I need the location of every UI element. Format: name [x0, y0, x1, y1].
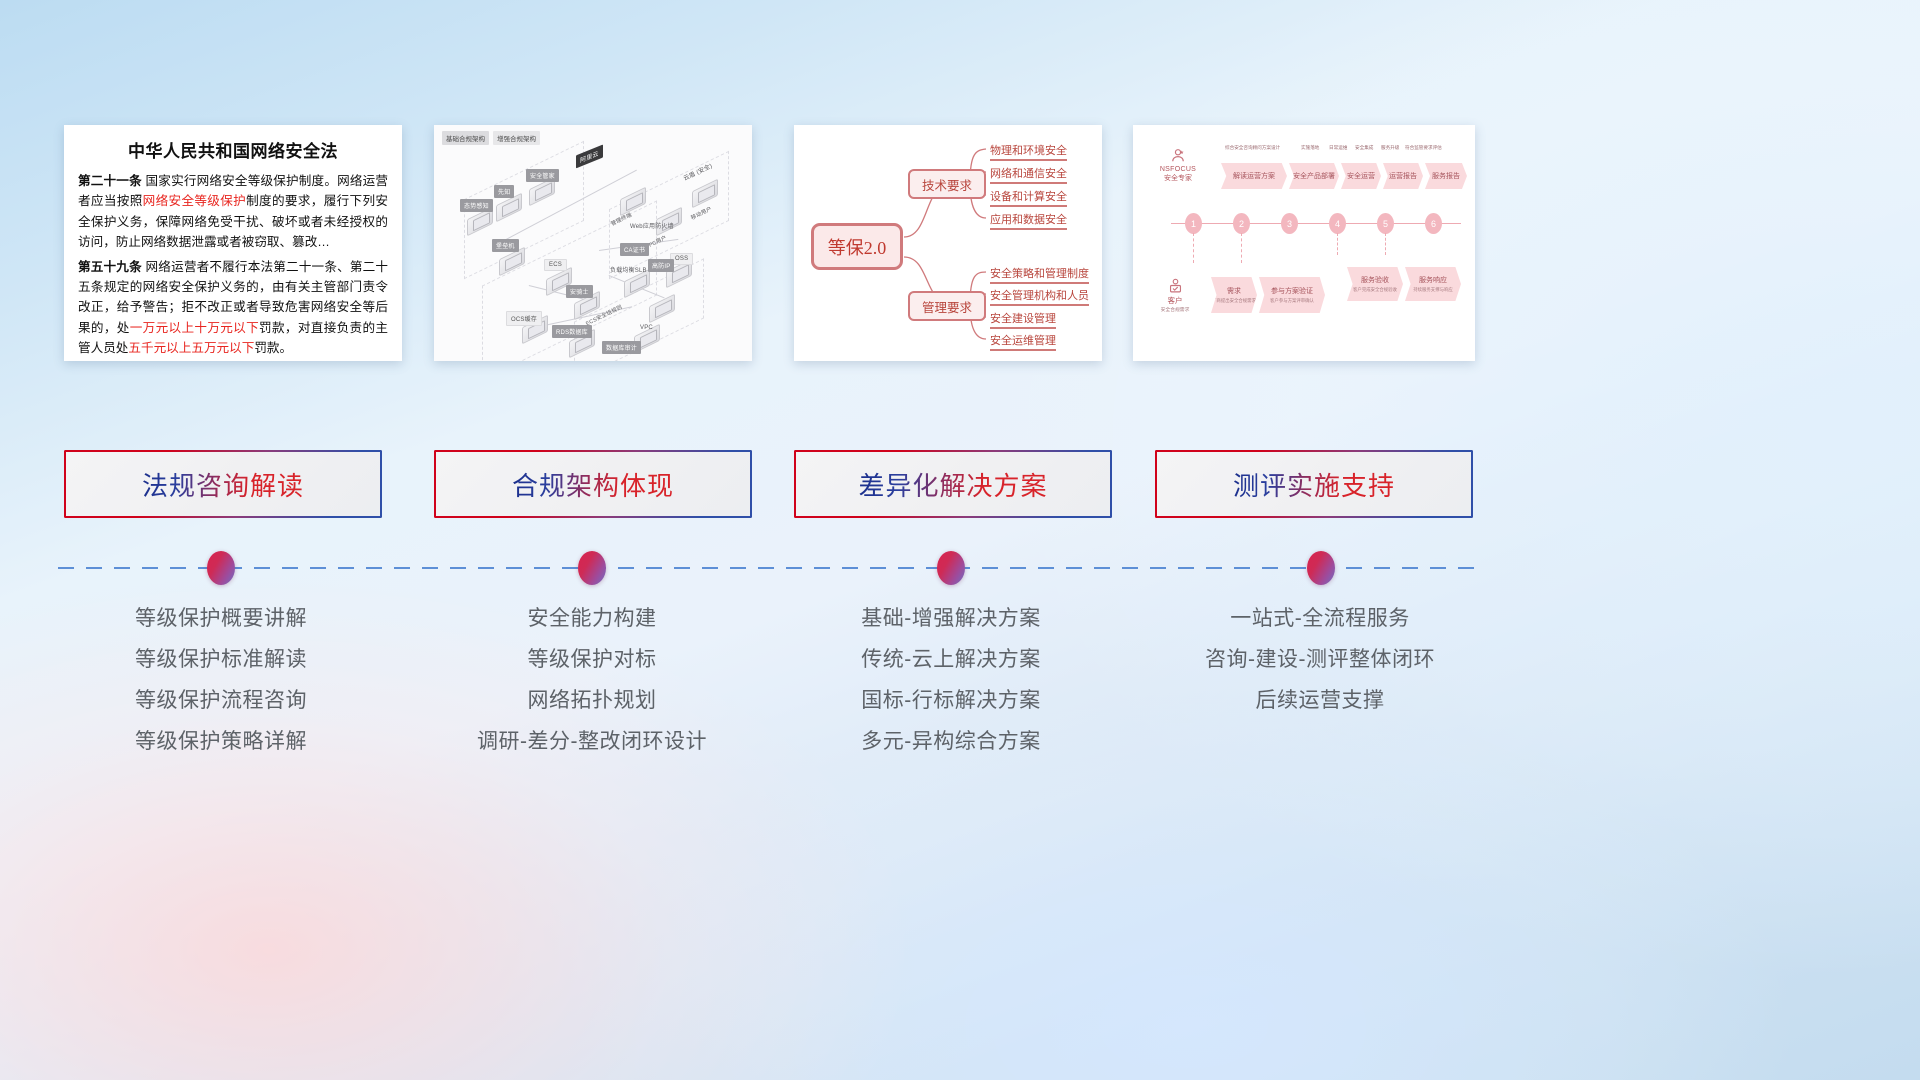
detail-list-regulatory: 等级保护概要讲解 等级保护标准解读 等级保护流程咨询 等级保护策略详解 — [41, 608, 401, 772]
node-label-slb: 负载均衡SLB — [610, 265, 647, 274]
card-mindmap: 等保2.0 技术要求 管理要求 物理和环境安全 网络和通信安全 设备和计算安全 … — [794, 125, 1102, 361]
top-label-5: 符合监管要求评估 — [1405, 145, 1442, 151]
card-service-timeline: NSFOCUS 安全专家 综合安全咨询顾问方案设计 实施落地 日常运维 安全集成… — [1133, 125, 1475, 361]
timeline-step-5: 5 — [1377, 213, 1394, 234]
customer-chevron-3-sub: 持续服务支撑与响应 — [1413, 287, 1453, 293]
list-item: 等级保护对标 — [412, 649, 772, 670]
service-chevron-1: 安全产品部署 — [1289, 163, 1339, 189]
persona-nsfocus-title: NSFOCUS — [1147, 166, 1209, 173]
customer-chevron-2-title: 服务验收 — [1361, 275, 1389, 285]
customer-icon — [1167, 277, 1184, 294]
customer-chevron-0-sub: 厂商提出安全合规需求 — [1212, 298, 1256, 304]
detail-list-architecture: 安全能力构建 等级保护对标 网络拓扑规划 调研-差分-整改闭环设计 — [412, 608, 772, 772]
list-item: 安全能力构建 — [412, 608, 772, 629]
list-item: 多元-异构综合方案 — [771, 731, 1131, 752]
mindmap-leaf-ops-mgmt: 安全运维管理 — [990, 332, 1056, 351]
timeline-stem-4 — [1337, 233, 1338, 255]
top-label-4: 服务升级 — [1381, 145, 1399, 151]
persona-customer-sub: 安全合规需求 — [1145, 306, 1205, 313]
list-item: 基础-增强解决方案 — [771, 608, 1131, 629]
timeline-marker-3 — [937, 551, 965, 585]
timeline-infographic: NSFOCUS 安全专家 综合安全咨询顾问方案设计 实施落地 日常运维 安全集成… — [1133, 125, 1475, 361]
mindmap-root-node: 等保2.0 — [811, 223, 903, 270]
timeline-axis — [1171, 223, 1461, 224]
timeline-step-2: 2 — [1233, 213, 1250, 234]
customer-chevron-1: 参与方案验证 客户参与方案评审确认 — [1259, 277, 1325, 313]
mindmap-leaf-construction-mgmt: 安全建设管理 — [990, 310, 1056, 329]
node-label-ca-certificate: CA证书 — [620, 243, 649, 256]
architecture-tabs: 基础合规架构 增强合规架构 — [442, 131, 540, 145]
persona-nsfocus-sub: 安全专家 — [1147, 173, 1209, 183]
customer-chevron-3-title: 服务响应 — [1419, 275, 1447, 285]
list-item: 等级保护流程咨询 — [41, 690, 401, 711]
timeline-marker-1 — [207, 551, 235, 585]
headline-label-2: 差异化解决方案 — [858, 466, 1047, 503]
customer-chevron-2-sub: 客户完成安全合规验收 — [1353, 287, 1397, 293]
list-item: 网络拓扑规划 — [412, 690, 772, 711]
service-chevron-4-title: 服务报告 — [1432, 171, 1460, 181]
list-item: 一站式-全流程服务 — [1140, 608, 1500, 629]
list-item: 等级保护策略详解 — [41, 731, 401, 752]
top-label-0: 综合安全咨询顾问方案设计 — [1225, 145, 1280, 151]
mindmap-branch-technical: 技术要求 — [908, 169, 986, 199]
law-article-21-highlight: 网络安全等级保护 — [143, 194, 246, 208]
timeline-dashed-line — [58, 567, 1483, 569]
service-chevron-3-title: 运营报告 — [1389, 171, 1417, 181]
mindmap-leaf-policy-system: 安全策略和管理制度 — [990, 265, 1089, 284]
timeline-step-4: 4 — [1329, 213, 1346, 234]
list-item: 等级保护标准解读 — [41, 649, 401, 670]
service-chevron-0: 解读运营方案 — [1221, 163, 1287, 189]
top-label-1: 实施落地 — [1301, 145, 1319, 151]
mindmap-branch-management: 管理要求 — [908, 291, 986, 321]
service-chevron-2-title: 安全运营 — [1347, 171, 1375, 181]
timeline-stem-5 — [1385, 233, 1386, 255]
headline-label-0: 法规咨询解读 — [142, 466, 304, 503]
top-label-3: 安全集成 — [1355, 145, 1373, 151]
timeline-step-6: 6 — [1425, 213, 1442, 234]
list-item: 传统-云上解决方案 — [771, 649, 1131, 670]
list-item: 后续运营支撑 — [1140, 690, 1500, 711]
mindmap-leaf-physical-env: 物理和环境安全 — [990, 142, 1067, 161]
node-label-database-audit: 数据库审计 — [602, 341, 641, 354]
node-label-ocs-cache: OCS缓存 — [506, 311, 542, 326]
timeline-stem-2 — [1241, 233, 1242, 263]
timeline-step-1: 1 — [1185, 213, 1202, 234]
headline-box-assessment-support[interactable]: 测评实施支持 — [1155, 450, 1473, 518]
node-label-anqishi: 安骑士 — [566, 285, 593, 298]
mindmap-leaf-org-personnel: 安全管理机构和人员 — [990, 287, 1089, 306]
node-label-xianzhi: 先知 — [494, 185, 514, 198]
law-article-59: 第五十九条 网络运营者不履行本法第二十一条、第二十五条规定的网络安全保护义务的，… — [78, 257, 388, 359]
customer-chevron-0-title: 需求 — [1227, 286, 1241, 296]
node-label-ecs: ECS — [544, 259, 567, 271]
persona-nsfocus-expert: NSFOCUS 安全专家 — [1147, 147, 1209, 183]
tab-enhanced-architecture[interactable]: 增强合规架构 — [493, 131, 540, 145]
tab-basic-architecture[interactable]: 基础合规架构 — [442, 131, 489, 145]
customer-chevron-1-title: 参与方案验证 — [1271, 286, 1313, 296]
law-article-59-fine-1: 一万元以上十万元以下 — [130, 321, 259, 335]
mindmap-diagram: 等保2.0 技术要求 管理要求 物理和环境安全 网络和通信安全 设备和计算安全 … — [794, 125, 1102, 361]
headline-box-regulatory-consulting[interactable]: 法规咨询解读 — [64, 450, 382, 518]
law-article-21: 第二十一条 国家实行网络安全等级保护制度。网络运营者应当按照网络安全等级保护制度… — [78, 171, 388, 253]
architecture-diagram: 基础合规架构 增强合规架构 — [434, 125, 752, 361]
persona-customer-title: 客户 — [1145, 295, 1205, 306]
node-label-vpc: VPC — [640, 325, 653, 331]
service-chevron-4: 服务报告 — [1425, 163, 1467, 189]
service-chevron-1-title: 安全产品部署 — [1293, 171, 1335, 181]
mindmap-leaf-device-compute: 设备和计算安全 — [990, 188, 1067, 207]
customer-chevron-1-sub: 客户参与方案评审确认 — [1270, 298, 1314, 304]
headline-label-3: 测评实施支持 — [1233, 466, 1395, 503]
slide-canvas: 中华人民共和国网络安全法 第二十一条 国家实行网络安全等级保护制度。网络运营者应… — [0, 0, 1920, 1080]
law-title: 中华人民共和国网络安全法 — [78, 137, 388, 162]
node-label-waf: Web应用防火墙 — [630, 221, 674, 230]
law-article-59-text-c: 罚款。 — [254, 341, 292, 355]
persona-customer: 客户 安全合规需求 — [1145, 277, 1205, 313]
node-label-security-steward: 安全管家 — [526, 169, 559, 182]
service-chevron-2: 安全运营 — [1341, 163, 1381, 189]
node-label-situational-awareness: 态势感知 — [460, 199, 493, 212]
card-cloud-architecture: 基础合规架构 增强合规架构 — [434, 125, 752, 361]
mindmap-leaf-network-comm: 网络和通信安全 — [990, 165, 1067, 184]
list-item: 等级保护概要讲解 — [41, 608, 401, 629]
node-label-rds-database: RDS数据库 — [552, 325, 592, 338]
node-label-bastion-host: 堡垒机 — [492, 239, 519, 252]
law-document: 中华人民共和国网络安全法 第二十一条 国家实行网络安全等级保护制度。网络运营者应… — [64, 125, 402, 361]
headline-box-compliance-architecture[interactable]: 合规架构体现 — [434, 450, 752, 518]
list-item: 咨询-建设-测评整体闭环 — [1140, 649, 1500, 670]
node-label-anti-ddos-ip: 高防IP — [648, 259, 674, 272]
top-label-2: 日常运维 — [1329, 145, 1347, 151]
customer-chevron-0: 需求 厂商提出安全合规需求 — [1211, 277, 1257, 313]
detail-list-assessment: 一站式-全流程服务 咨询-建设-测评整体闭环 后续运营支撑 — [1140, 608, 1500, 731]
timeline-stem-1 — [1193, 233, 1194, 263]
headline-label-1: 合规架构体现 — [512, 466, 674, 503]
card-law-text: 中华人民共和国网络安全法 第二十一条 国家实行网络安全等级保护制度。网络运营者应… — [64, 125, 402, 361]
law-article-59-fine-2: 五千元以上五万元以下 — [128, 341, 254, 355]
list-item: 调研-差分-整改闭环设计 — [412, 731, 772, 752]
timeline-step-3: 3 — [1281, 213, 1298, 234]
mindmap-leaf-app-data: 应用和数据安全 — [990, 211, 1067, 230]
expert-icon — [1169, 147, 1187, 165]
headline-box-differentiated-solution[interactable]: 差异化解决方案 — [794, 450, 1112, 518]
law-article-59-label: 第五十九条 — [78, 260, 142, 274]
detail-list-solution: 基础-增强解决方案 传统-云上解决方案 国标-行标解决方案 多元-异构综合方案 — [771, 608, 1131, 772]
customer-chevron-3: 服务响应 持续服务支撑与响应 — [1405, 267, 1461, 301]
customer-chevron-2: 服务验收 客户完成安全合规验收 — [1347, 267, 1403, 301]
service-chevron-0-title: 解读运营方案 — [1233, 171, 1275, 181]
timeline-marker-2 — [578, 551, 606, 585]
law-article-21-label: 第二十一条 — [78, 174, 142, 188]
list-item: 国标-行标解决方案 — [771, 690, 1131, 711]
service-chevron-3: 运营报告 — [1383, 163, 1423, 189]
timeline-marker-4 — [1307, 551, 1335, 585]
